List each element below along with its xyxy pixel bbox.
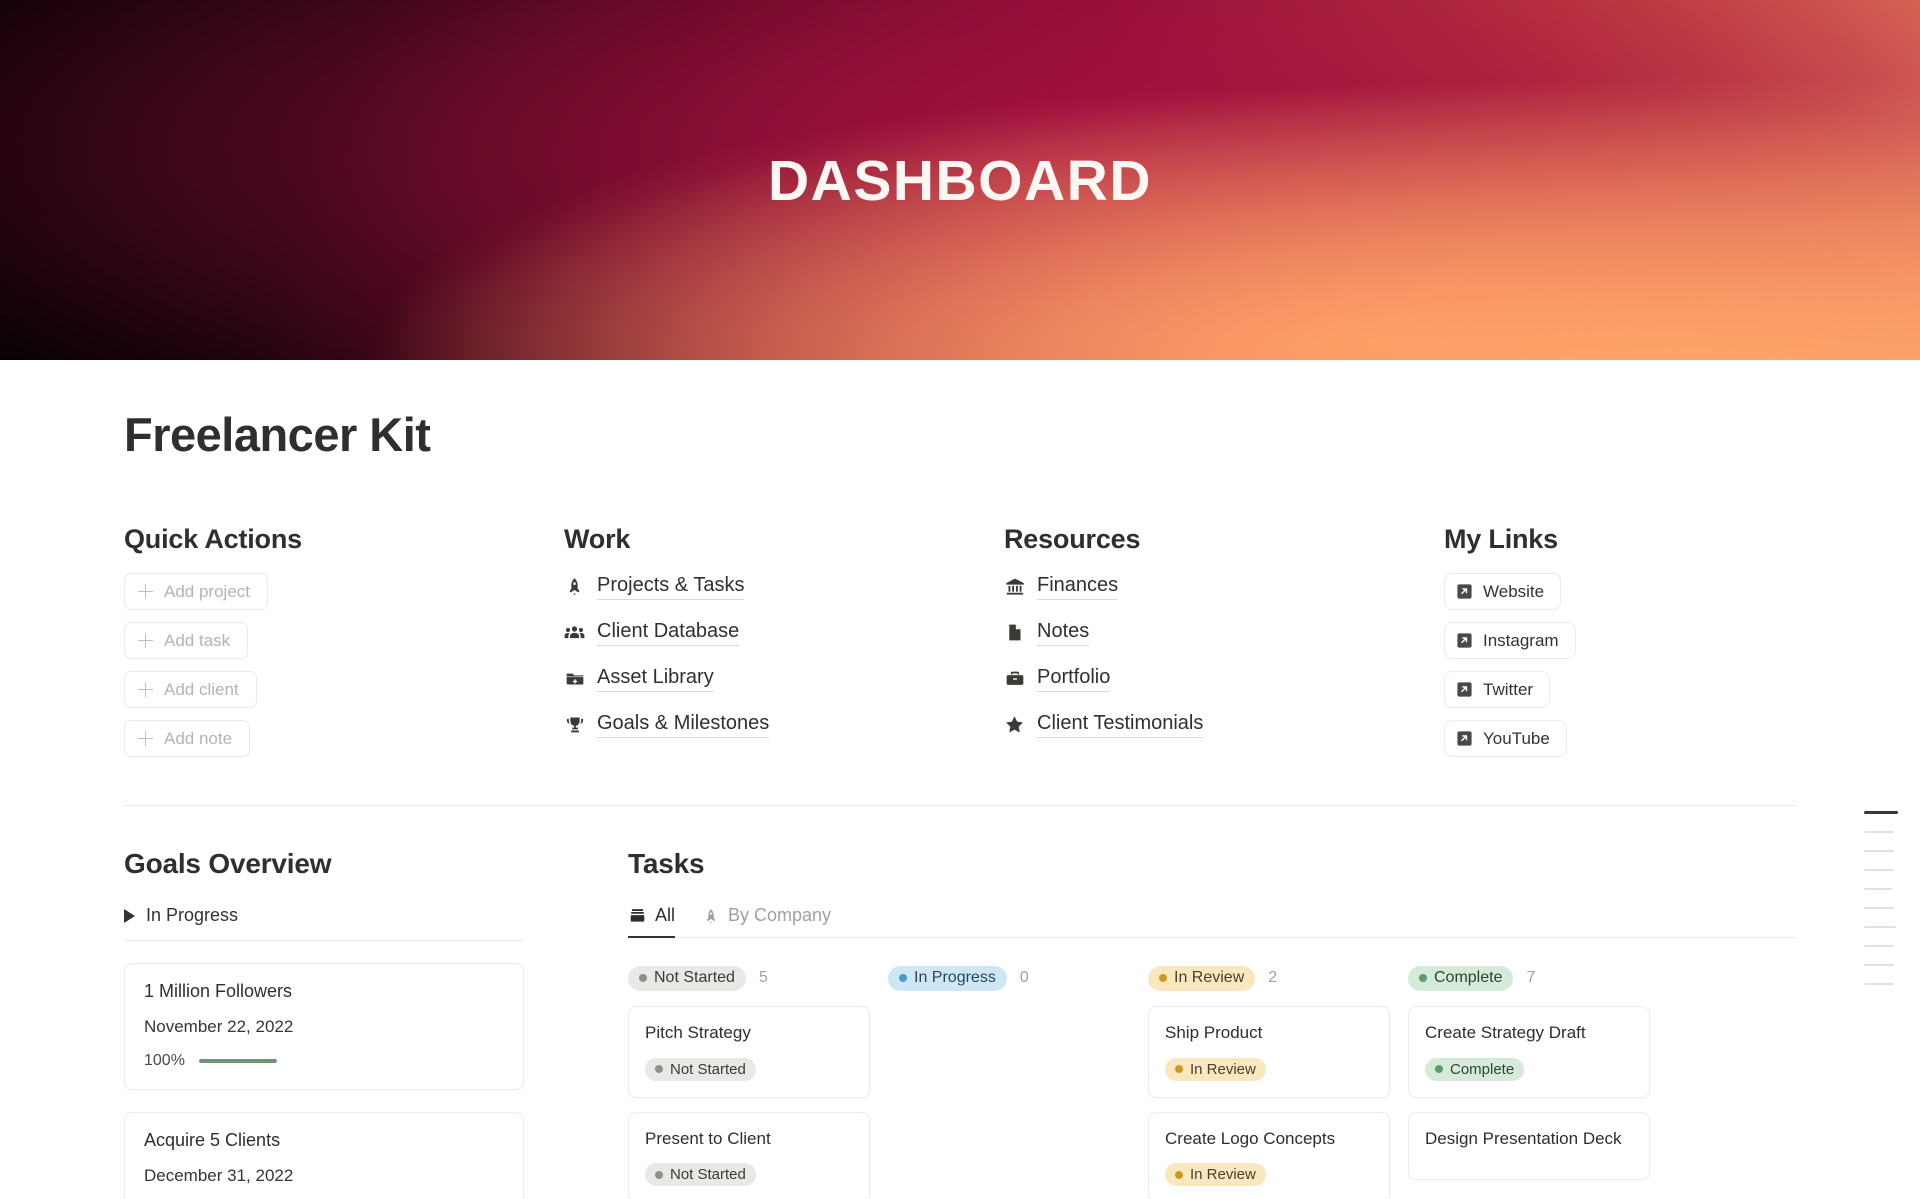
task-card[interactable]: Design Presentation Deck (1408, 1112, 1650, 1181)
status-label: In Progress (914, 970, 996, 986)
add-client-button[interactable]: Add client (124, 671, 257, 708)
tasks-section: Tasks All (584, 848, 1796, 1199)
task-card[interactable]: Create Logo Concepts In Review (1148, 1112, 1390, 1199)
nav-item-label: Asset Library (597, 665, 714, 692)
tasks-tabs: All By Company (628, 905, 1796, 938)
page-content: Freelancer Kit Quick Actions Add project… (0, 407, 1920, 1199)
task-title: Present to Client (645, 1128, 853, 1151)
add-task-button[interactable]: Add task (124, 622, 248, 659)
board-column-not-started: Not Started 5 Pitch Strategy Not Started… (628, 964, 888, 1199)
resources-heading: Resources (1004, 524, 1444, 555)
star-icon (1004, 714, 1025, 735)
quick-actions-heading: Quick Actions (124, 524, 564, 555)
goal-name: 1 Million Followers (144, 981, 504, 1002)
add-project-button[interactable]: Add project (124, 573, 268, 610)
add-note-label: Add note (164, 729, 232, 749)
status-label: In Review (1190, 1062, 1256, 1077)
nav-item-label: Notes (1037, 619, 1089, 646)
table-of-contents-rail[interactable] (1864, 811, 1898, 985)
goal-percent: 100% (144, 1052, 186, 1070)
status-dot (655, 1171, 663, 1179)
tab-all[interactable]: All (628, 905, 675, 937)
toc-item[interactable] (1864, 964, 1894, 966)
status-dot (899, 974, 907, 982)
rocket-icon (564, 576, 585, 597)
tab-label: By Company (728, 905, 831, 926)
board-column-complete: Complete 7 Create Strategy Draft Complet… (1408, 964, 1668, 1199)
task-card[interactable]: Create Strategy Draft Complete (1408, 1006, 1650, 1098)
toc-item[interactable] (1864, 811, 1898, 814)
link-label: YouTube (1483, 729, 1550, 749)
status-dot (1175, 1171, 1183, 1179)
link-twitter[interactable]: Twitter (1444, 671, 1550, 708)
toc-item[interactable] (1864, 850, 1894, 852)
column-header: In Review 2 (1148, 964, 1408, 992)
external-link-icon (1456, 730, 1473, 747)
plus-icon (138, 682, 153, 697)
task-title: Create Logo Concepts (1165, 1128, 1373, 1151)
status-label: In Review (1174, 970, 1244, 986)
external-link-icon (1456, 632, 1473, 649)
add-project-label: Add project (164, 582, 250, 602)
nav-item-asset-library[interactable]: Asset Library (564, 665, 1004, 692)
status-label: Not Started (654, 970, 735, 986)
briefcase-icon (1004, 668, 1025, 689)
tab-label: All (655, 905, 675, 926)
goal-date: November 22, 2022 (144, 1017, 504, 1037)
page-title: Freelancer Kit (124, 407, 1796, 462)
my-links-heading: My Links (1444, 524, 1784, 555)
link-youtube[interactable]: YouTube (1444, 720, 1567, 757)
cover-banner: DASHBOARD (0, 0, 1920, 360)
trophy-icon (564, 714, 585, 735)
folder-plus-icon (564, 668, 585, 689)
nav-item-label: Client Testimonials (1037, 711, 1203, 738)
toc-item[interactable] (1864, 888, 1892, 890)
nav-item-client-testimonials[interactable]: Client Testimonials (1004, 711, 1444, 738)
status-label: Complete (1434, 970, 1502, 986)
status-badge: In Review (1148, 966, 1255, 991)
column-header: Not Started 5 (628, 964, 888, 992)
work-column: Work Projects & Tasks (564, 524, 1004, 769)
stack-icon (628, 906, 647, 925)
nav-item-goals-milestones[interactable]: Goals & Milestones (564, 711, 1004, 738)
board-column-in-progress: In Progress 0 (888, 964, 1148, 1199)
progress-bar (199, 1059, 277, 1063)
add-client-label: Add client (164, 680, 239, 700)
column-count: 2 (1268, 969, 1277, 987)
status-badge: In Review (1165, 1163, 1266, 1186)
goals-heading: Goals Overview (124, 848, 584, 880)
lower-section: Goals Overview In Progress 1 Million Fol… (124, 848, 1796, 1199)
status-label: Not Started (670, 1167, 746, 1182)
link-label: Twitter (1483, 680, 1533, 700)
goal-name: Acquire 5 Clients (144, 1130, 504, 1151)
nav-item-label: Projects & Tasks (597, 573, 744, 600)
nav-grid: Quick Actions Add project Add task (124, 524, 1796, 769)
column-count: 5 (759, 969, 768, 987)
column-header: Complete 7 (1408, 964, 1668, 992)
tasks-heading: Tasks (628, 848, 1796, 880)
task-card[interactable]: Ship Product In Review (1148, 1006, 1390, 1098)
nav-item-portfolio[interactable]: Portfolio (1004, 665, 1444, 692)
add-note-button[interactable]: Add note (124, 720, 250, 757)
status-badge: Not Started (628, 966, 746, 991)
goal-card[interactable]: Acquire 5 Clients December 31, 2022 (124, 1112, 524, 1199)
toc-item[interactable] (1864, 945, 1894, 947)
link-label: Instagram (1483, 631, 1559, 651)
status-label: Not Started (670, 1062, 746, 1077)
toc-item[interactable] (1864, 926, 1896, 928)
nav-item-notes[interactable]: Notes (1004, 619, 1444, 646)
goals-filter-in-progress[interactable]: In Progress (124, 905, 524, 941)
task-title: Design Presentation Deck (1425, 1128, 1633, 1151)
my-links-list: Website Instagram (1444, 573, 1784, 769)
goal-card[interactable]: 1 Million Followers November 22, 2022 10… (124, 963, 524, 1090)
my-links-column: My Links Website (1444, 524, 1784, 769)
triangle-right-icon (124, 909, 135, 923)
status-dot (1159, 974, 1167, 982)
toc-item[interactable] (1864, 907, 1894, 909)
column-count: 0 (1020, 969, 1029, 987)
tasks-board: Not Started 5 Pitch Strategy Not Started… (628, 964, 1796, 1199)
status-badge: Complete (1425, 1058, 1524, 1081)
plus-icon (138, 633, 153, 648)
section-divider (124, 805, 1796, 806)
status-badge: Complete (1408, 966, 1513, 991)
status-dot (655, 1065, 663, 1073)
cover-title: DASHBOARD (0, 148, 1920, 214)
document-icon (1004, 622, 1025, 643)
nav-item-client-database[interactable]: Client Database (564, 619, 1004, 646)
rocket-icon (701, 906, 720, 925)
task-card[interactable]: Present to Client Not Started (628, 1112, 870, 1199)
nav-item-label: Portfolio (1037, 665, 1110, 692)
status-badge: In Progress (888, 966, 1007, 991)
status-badge: Not Started (645, 1058, 756, 1081)
nav-item-label: Finances (1037, 573, 1118, 600)
toc-item[interactable] (1864, 831, 1894, 833)
add-task-label: Add task (164, 631, 230, 651)
tab-by-company[interactable]: By Company (701, 905, 831, 937)
external-link-icon (1456, 583, 1473, 600)
resources-column: Resources Finances (1004, 524, 1444, 769)
task-title: Pitch Strategy (645, 1022, 853, 1045)
status-label: In Review (1190, 1167, 1256, 1182)
nav-item-projects-tasks[interactable]: Projects & Tasks (564, 573, 1004, 600)
status-dot (1435, 1065, 1443, 1073)
task-title: Create Strategy Draft (1425, 1022, 1633, 1045)
link-website[interactable]: Website (1444, 573, 1561, 610)
goal-date: December 31, 2022 (144, 1166, 504, 1186)
status-badge: Not Started (645, 1163, 756, 1186)
status-dot (639, 974, 647, 982)
external-link-icon (1456, 681, 1473, 698)
quick-actions-column: Quick Actions Add project Add task (124, 524, 564, 769)
quick-action-row: Add task (124, 622, 564, 671)
quick-action-row: Add project (124, 573, 564, 622)
board-column-in-review: In Review 2 Ship Product In Review Creat… (1148, 964, 1408, 1199)
status-label: Complete (1450, 1062, 1514, 1077)
task-title: Ship Product (1165, 1022, 1373, 1045)
nav-item-label: Client Database (597, 619, 739, 646)
column-header: In Progress 0 (888, 964, 1148, 992)
goals-overview-section: Goals Overview In Progress 1 Million Fol… (124, 848, 584, 1199)
link-instagram[interactable]: Instagram (1444, 622, 1576, 659)
goal-progress: 100% (144, 1052, 504, 1070)
bank-icon (1004, 576, 1025, 597)
nav-item-finances[interactable]: Finances (1004, 573, 1444, 600)
column-count: 7 (1526, 969, 1535, 987)
quick-action-row: Add note (124, 720, 564, 769)
status-dot (1419, 974, 1427, 982)
link-label: Website (1483, 582, 1544, 602)
plus-icon (138, 731, 153, 746)
toc-item[interactable] (1864, 869, 1894, 871)
toc-item[interactable] (1864, 983, 1894, 985)
quick-action-row: Add client (124, 671, 564, 720)
status-dot (1175, 1065, 1183, 1073)
work-heading: Work (564, 524, 1004, 555)
nav-item-label: Goals & Milestones (597, 711, 769, 738)
goals-filter-label: In Progress (146, 905, 238, 926)
quick-actions-list: Add project Add task Add client (124, 573, 564, 769)
plus-icon (138, 584, 153, 599)
users-icon (564, 622, 585, 643)
status-badge: In Review (1165, 1058, 1266, 1081)
task-card[interactable]: Pitch Strategy Not Started (628, 1006, 870, 1098)
